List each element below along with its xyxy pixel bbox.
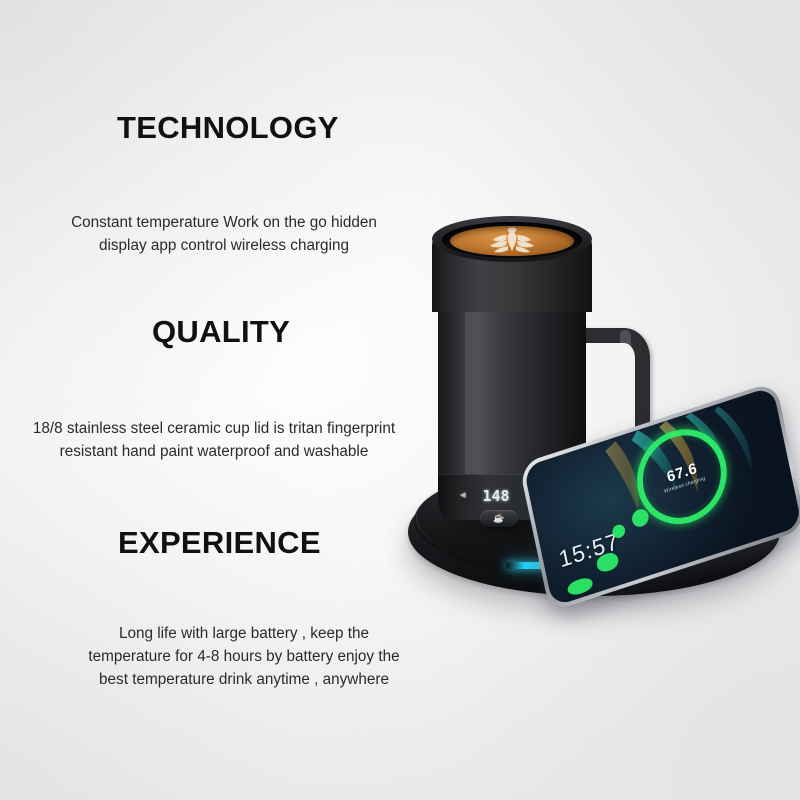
heading-quality: QUALITY — [152, 314, 290, 350]
temperature-down-arrow-icon[interactable]: ◂ — [460, 490, 466, 501]
coffee-surface — [450, 226, 574, 256]
paragraph-quality: 18/8 stainless steel ceramic cup lid is … — [4, 417, 424, 463]
mug-power-button[interactable]: ☕ — [480, 510, 518, 527]
product-banner: TECHNOLOGY Constant temperature Work on … — [0, 0, 800, 800]
paragraph-experience: Long life with large battery , keep the … — [54, 622, 434, 691]
latte-art-icon — [450, 226, 574, 256]
heading-experience: EXPERIENCE — [118, 525, 321, 561]
mug-display-value: 148 — [482, 489, 509, 504]
mug-led-display: 148 — [476, 486, 516, 506]
heading-technology: TECHNOLOGY — [117, 110, 339, 146]
paragraph-technology: Constant temperature Work on the go hidd… — [24, 211, 424, 257]
cup-icon: ☕ — [493, 514, 504, 523]
product-image: ◂ 148 ▸ ☕ — [380, 210, 800, 630]
